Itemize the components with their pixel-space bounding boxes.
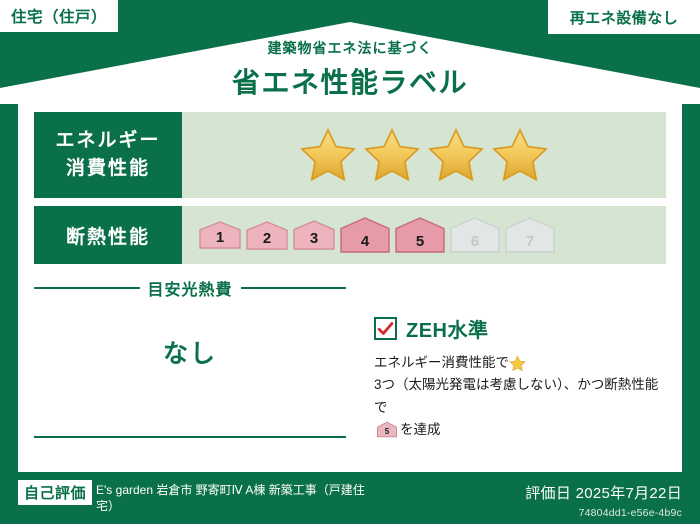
star-icon	[364, 127, 420, 183]
house-icon: 4	[339, 216, 391, 254]
building-type-tag: 住宅（住戸）	[0, 0, 118, 32]
energy-label-line2: 消費性能	[66, 155, 150, 183]
zeh-title: ZEH水準	[406, 314, 489, 343]
star-icon	[492, 127, 548, 183]
house-icon: 2	[245, 220, 289, 251]
house-icon: 6	[449, 216, 501, 254]
utility-cost-underline	[34, 436, 346, 438]
insulation-level-icon: 5	[376, 421, 398, 438]
utility-cost-value: なし	[34, 334, 346, 370]
house-icon: 3	[292, 219, 336, 251]
footer: 自己評価 E's garden 岩倉市 野寄町Ⅳ A棟 新築工事（戸建住宅） 評…	[0, 472, 700, 524]
utility-cost-section: 目安光熱費 なし	[34, 276, 346, 370]
zeh-section: ZEH水準 エネルギー消費性能で 3つ（太陽光発電は考慮しない）、かつ断熱性能で…	[374, 314, 670, 441]
building-type-tag-label: 住宅（住戸）	[11, 5, 107, 27]
insulation-level-6: 6	[449, 216, 501, 254]
zeh-description: エネルギー消費性能で 3つ（太陽光発電は考慮しない）、かつ断熱性能で 5 を達成	[374, 352, 670, 441]
cost-rule-right	[241, 287, 347, 289]
utility-cost-title: 目安光熱費	[148, 276, 233, 300]
insulation-level-number: 7	[526, 233, 534, 250]
renewable-equipment-tag: 再エネ設備なし	[548, 0, 700, 34]
insulation-level-number: 1	[216, 229, 224, 246]
insulation-performance-row: 断熱性能 1234567	[34, 206, 666, 264]
header: 住宅（住戸） 再エネ設備なし 建築物省エネ法に基づく 省エネ性能ラベル	[0, 0, 700, 104]
insulation-level-number: 2	[263, 230, 271, 247]
project-name: E's garden 岩倉市 野寄町Ⅳ A棟 新築工事（戸建住宅）	[96, 480, 368, 514]
star-rating	[182, 112, 666, 198]
zeh-checkbox	[374, 317, 397, 340]
self-evaluation-badge: 自己評価	[18, 480, 92, 505]
cost-rule-left	[34, 287, 140, 289]
utility-cost-header: 目安光熱費	[34, 276, 346, 300]
zeh-desc-part1: エネルギー消費性能で	[374, 352, 509, 374]
star-icon	[509, 355, 526, 372]
insulation-level-number: 6	[471, 233, 479, 250]
energy-performance-row: エネルギー 消費性能	[34, 112, 666, 198]
label-title: 省エネ性能ラベル	[0, 61, 700, 101]
house-icon: 7	[504, 216, 556, 254]
insulation-performance-label-box: 断熱性能	[34, 206, 182, 264]
title-block: 建築物省エネ法に基づく 省エネ性能ラベル	[0, 38, 700, 101]
zeh-desc-part2: 3つ（太陽光発電は考慮しない）、かつ断熱性能で	[374, 374, 670, 419]
insulation-level-3: 3	[292, 219, 336, 251]
insulation-level-number: 3	[310, 230, 318, 247]
insulation-level-number: 5	[416, 233, 424, 250]
label-card: エネルギー 消費性能 断熱性能 1234567 目安光熱費 なし	[18, 96, 682, 472]
label-subtitle: 建築物省エネ法に基づく	[0, 38, 700, 58]
zeh-header: ZEH水準	[374, 314, 670, 343]
zeh-desc-part3: を達成	[400, 419, 441, 441]
energy-label-line1: エネルギー	[55, 127, 160, 155]
renewable-equipment-tag-label: 再エネ設備なし	[570, 7, 679, 28]
insulation-label: 断熱性能	[66, 222, 150, 249]
insulation-level-4: 4	[339, 216, 391, 254]
insulation-level-2: 2	[245, 220, 289, 251]
house-icon: 5	[394, 216, 446, 254]
house-icon: 1	[198, 220, 242, 250]
insulation-level-7: 7	[504, 216, 556, 254]
star-icon	[428, 127, 484, 183]
check-icon	[377, 320, 394, 337]
footer-right: 評価日 2025年7月22日 74804dd1-e56e-4b9c	[525, 482, 682, 519]
evaluation-date: 評価日 2025年7月22日	[525, 482, 682, 503]
energy-performance-label-box: エネルギー 消費性能	[34, 112, 182, 198]
insulation-level-number: 4	[361, 233, 370, 250]
svg-text:5: 5	[385, 427, 390, 436]
footer-left: 自己評価 E's garden 岩倉市 野寄町Ⅳ A棟 新築工事（戸建住宅）	[18, 480, 368, 514]
insulation-level-1: 1	[198, 220, 242, 250]
insulation-level-5: 5	[394, 216, 446, 254]
evaluation-id: 74804dd1-e56e-4b9c	[525, 507, 682, 519]
energy-performance-label: 住宅（住戸） 再エネ設備なし 建築物省エネ法に基づく 省エネ性能ラベル エネルギ…	[0, 0, 700, 524]
star-icon	[300, 127, 356, 183]
insulation-level-scale: 1234567	[182, 206, 666, 264]
